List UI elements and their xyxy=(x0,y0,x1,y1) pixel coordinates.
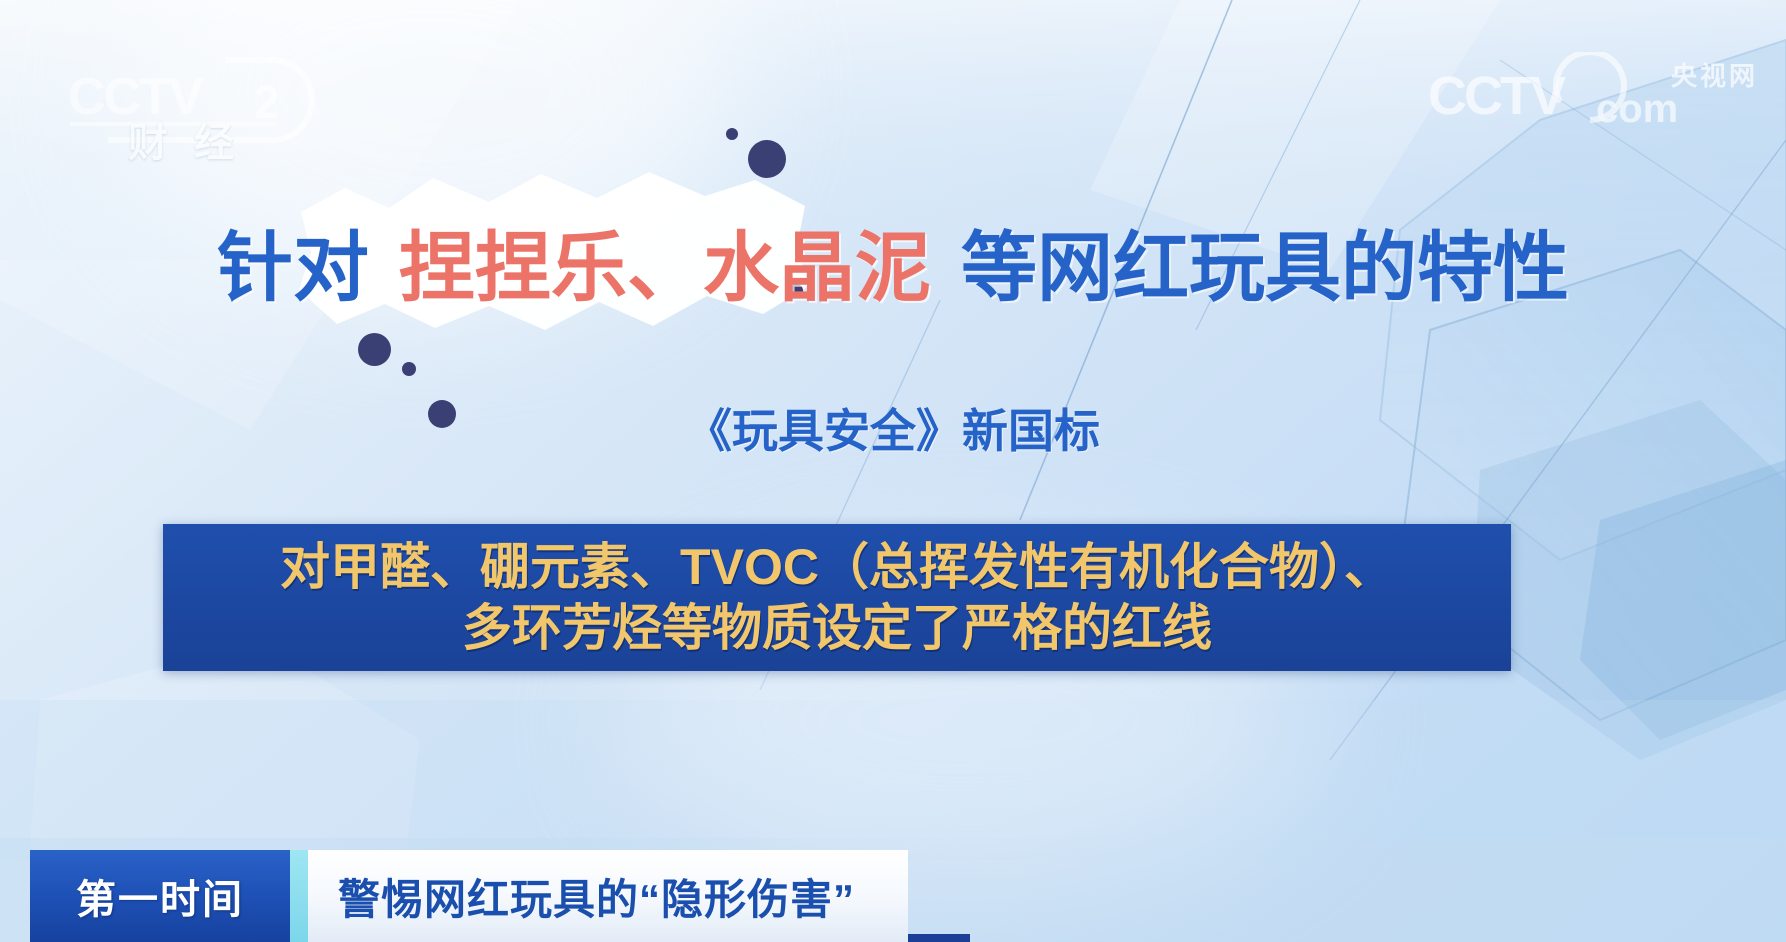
standards-info-box: 对甲醛、硼元素、TVOC（总挥发性有机化合物）、 多环芳烃等物质设定了严格的红线 xyxy=(163,524,1511,671)
lower-third-accent-bar xyxy=(290,850,308,942)
standards-line-1: 对甲醛、硼元素、TVOC（总挥发性有机化合物）、 xyxy=(280,537,1394,598)
broadcast-frame: CCTV 2 财经 CCTV com 央视网 针对 xyxy=(0,0,1786,942)
headline-suffix: 等网红玩具的特性 xyxy=(961,231,1569,307)
lower-third: 第一时间 警惕网红玩具的“隐形伤害” xyxy=(30,850,908,942)
headline-highlight: 捏捏乐、水晶泥 xyxy=(399,231,931,307)
cctv-com-watermark: CCTV com 央视网 xyxy=(1428,52,1758,132)
lower-third-topic: 警惕网红玩具的“隐形伤害” xyxy=(308,850,908,942)
headline: 针对 捏捏乐、水晶泥 等网红玩具的特性 xyxy=(0,214,1786,324)
cctv2-channel-name: 财经 xyxy=(128,110,298,156)
lower-third-program-name: 第一时间 xyxy=(30,850,290,942)
svg-text:com: com xyxy=(1596,87,1678,131)
decor-dot-large-left xyxy=(358,333,391,366)
subtitle: 《玩具安全》新国标 xyxy=(0,398,1786,458)
decor-dot-tiny-left xyxy=(402,362,416,376)
decor-dot-large-top xyxy=(748,140,786,178)
cctv-com-watermark-cn: 央视网 xyxy=(1671,56,1758,93)
svg-text:CCTV: CCTV xyxy=(1428,66,1566,126)
cctv2-channel-logo: CCTV 2 财经 xyxy=(58,52,326,160)
headline-prefix: 针对 xyxy=(217,231,369,307)
decor-dot-small-top xyxy=(726,128,738,140)
standards-line-2: 多环芳烃等物质设定了严格的红线 xyxy=(462,598,1212,659)
